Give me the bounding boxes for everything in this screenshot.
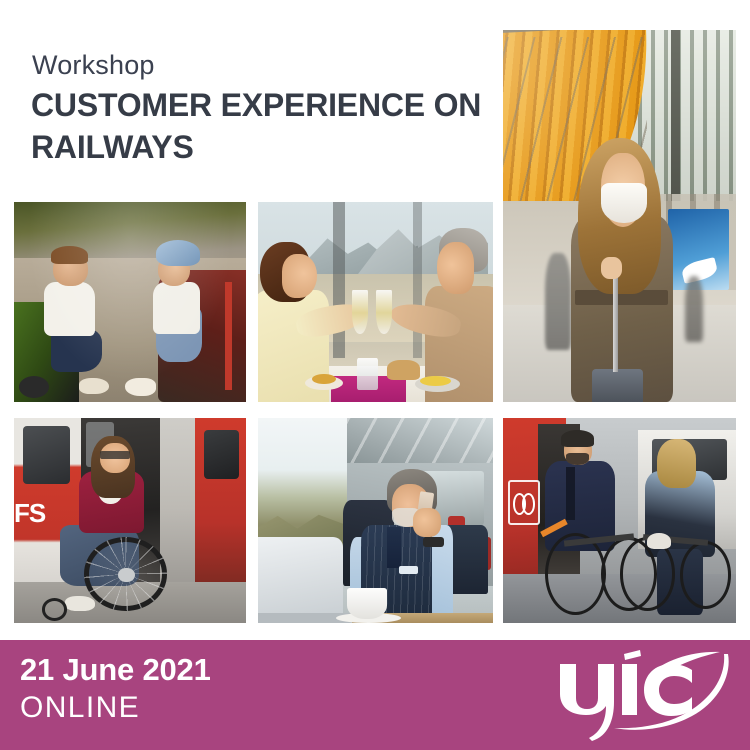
kicker-label: Workshop bbox=[32, 52, 155, 79]
event-format: ONLINE bbox=[20, 693, 140, 723]
train-livery-text: FS bbox=[14, 500, 44, 525]
bicycle-icon bbox=[508, 480, 541, 525]
event-date: 21 June 2021 bbox=[20, 654, 211, 685]
header-block: Workshop CUSTOMER EXPERIENCE ON RAILWAYS bbox=[0, 0, 503, 195]
uic-logo bbox=[552, 650, 732, 742]
photo-dining bbox=[258, 202, 493, 402]
photo-business bbox=[258, 418, 493, 623]
page-title: CUSTOMER EXPERIENCE ON RAILWAYS bbox=[31, 84, 501, 168]
photo-wheelchair: FS bbox=[14, 418, 246, 623]
photo-toddlers bbox=[14, 202, 246, 402]
photo-station bbox=[503, 30, 736, 402]
event-banner: 21 June 2021 ONLINE bbox=[0, 640, 750, 750]
photo-cyclists bbox=[503, 418, 736, 623]
